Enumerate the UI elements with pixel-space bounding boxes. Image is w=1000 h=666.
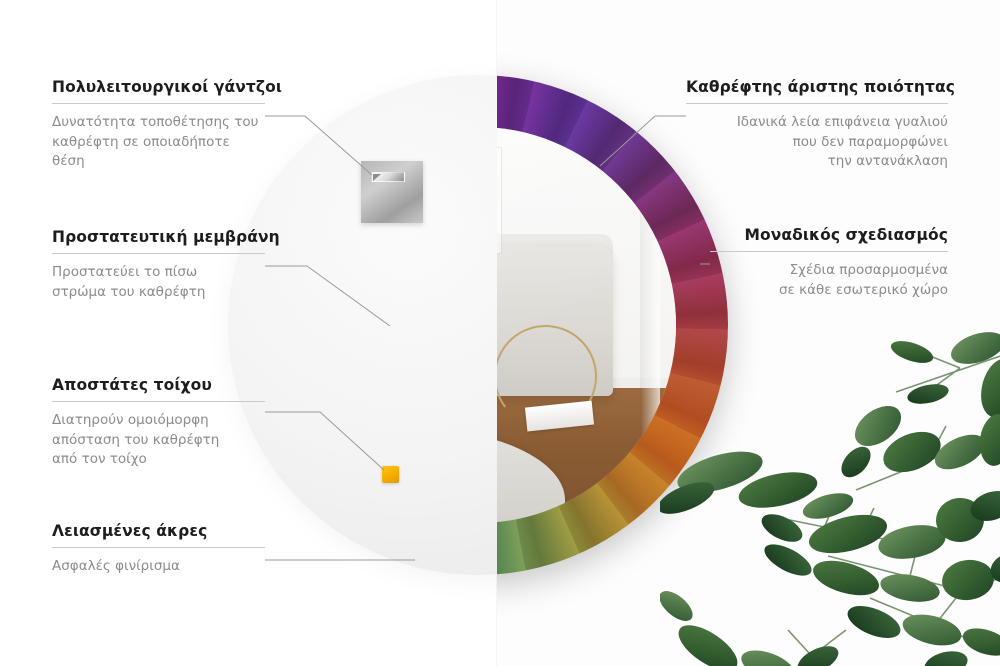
reflection-door-edge [640, 127, 660, 468]
callout-spacers-rule [52, 401, 265, 402]
callout-hooks: Πολυλειτουργικοί γάντζοι Δυνατότητα τοπο… [52, 78, 265, 172]
callout-design-title: Μοναδικός σχεδιασμός [710, 226, 948, 244]
callout-edges-title: Λειασμένες άκρες [52, 522, 265, 540]
callout-hooks-desc: Δυνατότητα τοποθέτησης του καθρέφτη σε ο… [52, 113, 265, 172]
callout-spacers-title: Αποστάτες τοίχου [52, 376, 265, 394]
callout-membrane: Προστατευτική μεμβράνη Προστατεύει το πί… [52, 228, 265, 302]
callout-quality: Καθρέφτης άριστης ποιότητας Ιδανικά λεία… [686, 78, 948, 172]
callout-membrane-rule [52, 253, 265, 254]
callout-membrane-desc: Προστατεύει το πίσω στρώμα του καθρέφτη [52, 263, 265, 302]
callout-design: Μοναδικός σχεδιασμός Σχέδια προσαρμοσμέν… [710, 226, 948, 300]
callout-membrane-title: Προστατευτική μεμβράνη [52, 228, 265, 246]
reflection-wall-art-frame [497, 147, 502, 254]
infographic-canvas: Πολυλειτουργικοί γάντζοι Δυνατότητα τοπο… [0, 0, 1000, 666]
bracket-keyhole-slot [371, 172, 405, 182]
callout-quality-title: Καθρέφτης άριστης ποιότητας [686, 78, 948, 96]
callout-edges-rule [52, 547, 265, 548]
mirror-glass-surface [497, 127, 676, 523]
callout-hooks-title: Πολυλειτουργικοί γάντζοι [52, 78, 265, 96]
callout-edges-desc: Ασφαλές φινίρισμα [52, 557, 265, 577]
callout-hooks-rule [52, 103, 265, 104]
hanging-bracket-part [361, 161, 423, 223]
callout-edges: Λειασμένες άκρες Ασφαλές φινίρισμα [52, 522, 265, 577]
callout-spacers-desc: Διατηρούν ομοιόμορφη απόσταση του καθρέφ… [52, 411, 265, 470]
callout-design-desc: Σχέδια προσαρμοσμένα σε κάθε εσωτερικό χ… [710, 261, 948, 300]
callout-design-rule [710, 251, 948, 252]
wall-spacer-part [382, 466, 399, 483]
callout-quality-desc: Ιδανικά λεία επιφάνεια γυαλιού που δεν π… [686, 113, 948, 172]
callout-quality-rule [686, 103, 948, 104]
callout-spacers: Αποστάτες τοίχου Διατηρούν ομοιόμορφη απ… [52, 376, 265, 470]
